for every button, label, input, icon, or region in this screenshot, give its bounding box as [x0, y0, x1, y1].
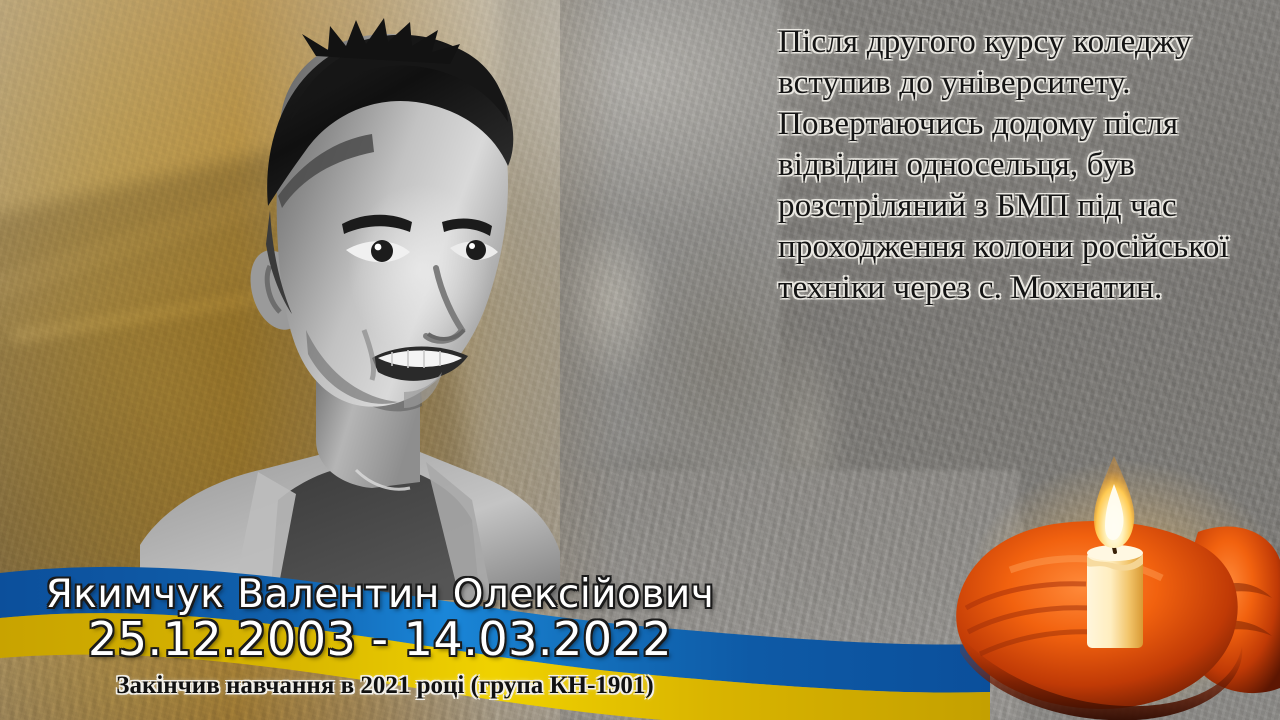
portrait-photo	[120, 0, 560, 600]
life-dates: 25.12.2003 - 14.03.2022	[0, 612, 760, 666]
graduation-note: Закінчив навчання в 2021 році (група КН-…	[0, 672, 770, 700]
deceased-name: Якимчук Валентин Олексійович	[0, 572, 760, 617]
biography-text: Після другого курсу коледжу вступив до у…	[778, 22, 1248, 309]
memorial-poster: Після другого курсу коледжу вступив до у…	[0, 0, 1280, 720]
candle-in-hands-icon	[950, 440, 1280, 720]
